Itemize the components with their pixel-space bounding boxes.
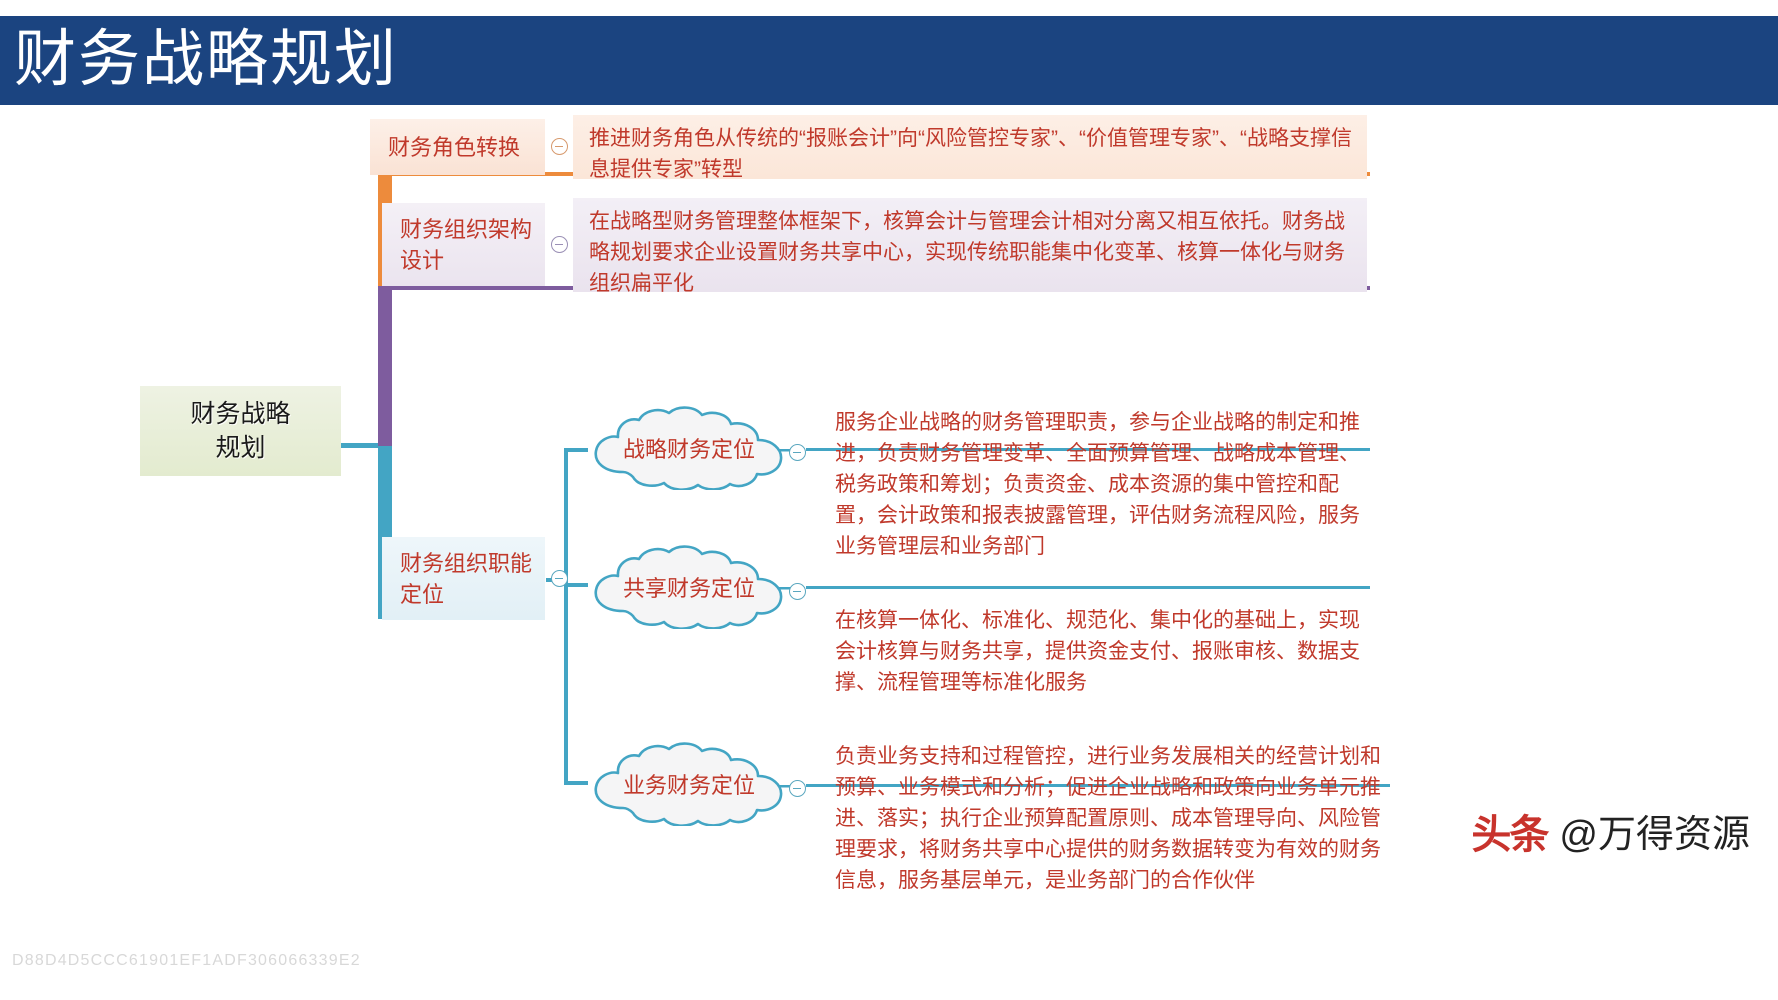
brand-logo: 头条 @万得资源 xyxy=(1471,812,1750,858)
branch-label-text: 财务角色转换 xyxy=(388,132,520,163)
collapse-minus-icon[interactable] xyxy=(551,570,568,587)
branch-label-text: 财务组织架构设计 xyxy=(400,214,545,276)
collapse-minus-icon[interactable] xyxy=(551,236,568,253)
page-title: 财务战略规划 xyxy=(14,24,398,96)
cloud-node-strategic-finance[interactable]: 战略财务定位 xyxy=(578,406,800,490)
cloud-node-business-finance[interactable]: 业务财务定位 xyxy=(578,742,800,826)
root-node-label: 财务战略 规划 xyxy=(190,397,290,465)
collapse-minus-icon[interactable] xyxy=(551,138,568,155)
branch-body-text-1: 在战略型财务管理整体框架下，核算会计与管理会计相对分离又相互依托。财务战略规划要… xyxy=(573,198,1367,292)
leaf-description-2: 负责业务支持和过程管控，进行业务发展相关的经营计划和预算、业务模式和分析；促进企… xyxy=(835,741,1390,896)
brand-name: @万得资源 xyxy=(1559,812,1750,858)
cloud-node-label: 业务财务定位 xyxy=(578,742,800,826)
header-banner: 财务战略规划 xyxy=(0,16,1778,105)
cloud-node-label: 共享财务定位 xyxy=(578,545,800,629)
branch-body-0: 推进财务角色从传统的“报账会计”向“风险管控专家”、“价值管理专家”、“战略支撑… xyxy=(589,127,1352,181)
collapse-minus-icon[interactable] xyxy=(789,583,806,600)
mindmap-canvas: 财务战略 规划 财务角色转换 推进财务角色从传统的“报账会计”向“风险管控专家”… xyxy=(0,105,1778,1000)
branch-label-text: 财务组织职能定位 xyxy=(400,548,545,610)
branch-node-org-structure-design[interactable]: 财务组织架构设计 xyxy=(382,203,545,286)
collapse-minus-icon[interactable] xyxy=(789,444,806,461)
branch-node-financial-role-transformation[interactable]: 财务角色转换 xyxy=(370,119,545,175)
leaf-description-0: 服务企业战略的财务管理职责，参与企业战略的制定和推进，负责财务管理变革、全面预算… xyxy=(835,407,1380,562)
collapse-minus-icon[interactable] xyxy=(789,780,806,797)
root-node[interactable]: 财务战略 规划 xyxy=(140,386,341,476)
cloud-node-shared-finance[interactable]: 共享财务定位 xyxy=(578,545,800,629)
watermark-code: D88D4D5CCC61901EF1ADF306066339E2 xyxy=(12,952,361,970)
branch-body-text-0: 推进财务角色从传统的“报账会计”向“风险管控专家”、“价值管理专家”、“战略支撑… xyxy=(573,115,1367,179)
cloud-node-label: 战略财务定位 xyxy=(578,406,800,490)
leaf-description-1: 在核算一体化、标准化、规范化、集中化的基础上，实现会计核算与财务共享，提供资金支… xyxy=(835,605,1380,698)
brand-mark: 头条 xyxy=(1471,812,1547,858)
branch-body-1: 在战略型财务管理整体框架下，核算会计与管理会计相对分离又相互依托。财务战略规划要… xyxy=(589,210,1345,295)
branch-node-org-function-positioning[interactable]: 财务组织职能定位 xyxy=(382,537,545,620)
